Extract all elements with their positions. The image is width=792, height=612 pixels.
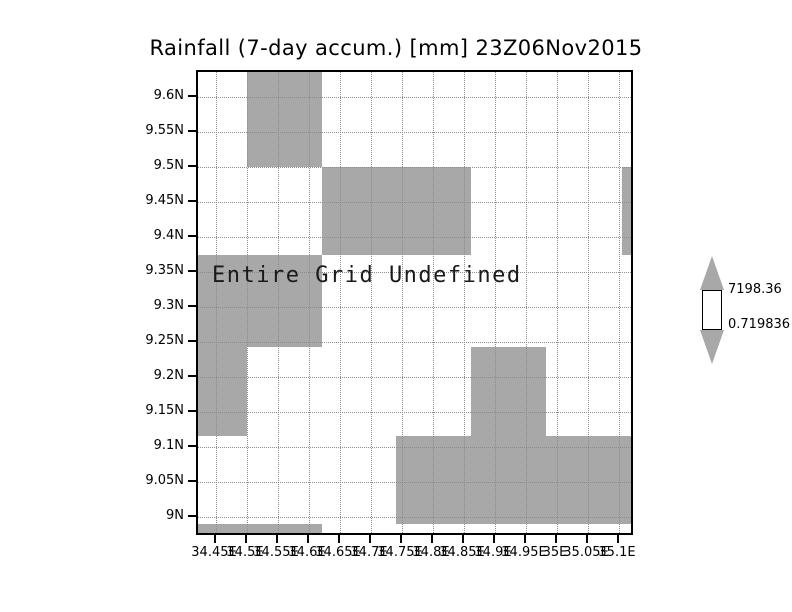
y-axis-label: 9.15N — [145, 403, 184, 418]
gridline-horizontal — [198, 517, 631, 518]
colorbar[interactable] — [700, 256, 724, 364]
y-axis-tick — [188, 130, 196, 132]
y-axis-label: 9.55N — [145, 123, 184, 138]
gridline-vertical — [619, 72, 620, 533]
grid-lines — [198, 72, 631, 533]
gridline-vertical — [340, 72, 341, 533]
x-axis-tick — [214, 535, 216, 543]
x-axis-tick — [431, 535, 433, 543]
x-axis-tick — [307, 535, 309, 543]
y-axis-tick — [188, 235, 196, 237]
gridline-horizontal — [198, 202, 631, 203]
gridline-vertical — [588, 72, 589, 533]
y-axis-tick — [188, 340, 196, 342]
plot-area[interactable] — [196, 70, 633, 535]
y-axis-tick — [188, 515, 196, 517]
gridline-vertical — [278, 72, 279, 533]
y-axis-tick — [188, 375, 196, 377]
y-axis-label: 9.05N — [145, 473, 184, 488]
gridline-vertical — [433, 72, 434, 533]
gridline-vertical — [309, 72, 310, 533]
x-axis-tick — [493, 535, 495, 543]
x-axis-tick — [276, 535, 278, 543]
page-title: Rainfall (7-day accum.) [mm] 23Z06Nov201… — [0, 36, 792, 60]
x-axis-tick — [462, 535, 464, 543]
gridline-vertical — [557, 72, 558, 533]
gridline-horizontal — [198, 447, 631, 448]
x-axis-label: 35.1E — [598, 545, 635, 560]
y-axis-label: 9.5N — [154, 158, 184, 173]
gridline-horizontal — [198, 97, 631, 98]
x-axis-tick — [524, 535, 526, 543]
x-axis-tick — [338, 535, 340, 543]
colorbar-min-label: 0.719836 — [728, 317, 790, 332]
y-axis-tick — [188, 410, 196, 412]
y-axis-label: 9.4N — [154, 228, 184, 243]
x-axis-tick — [400, 535, 402, 543]
colorbar-upper-triangle-icon — [700, 256, 724, 290]
gridline-vertical — [402, 72, 403, 533]
y-axis-label: 9.25N — [145, 333, 184, 348]
gridline-vertical — [216, 72, 217, 533]
x-axis-tick — [245, 535, 247, 543]
entire-grid-undefined-message: Entire Grid Undefined — [212, 263, 522, 288]
colorbar-max-label: 7198.36 — [728, 282, 782, 297]
x-axis-tick — [555, 535, 557, 543]
y-axis-label: 9.35N — [145, 263, 184, 278]
y-axis-tick — [188, 305, 196, 307]
gridline-horizontal — [198, 377, 631, 378]
x-axis-tick — [586, 535, 588, 543]
y-axis-tick — [188, 200, 196, 202]
gridline-vertical — [495, 72, 496, 533]
y-axis-label: 9.6N — [154, 88, 184, 103]
gridline-horizontal — [198, 167, 631, 168]
gridline-vertical — [247, 72, 248, 533]
gridline-horizontal — [198, 412, 631, 413]
gridline-vertical — [464, 72, 465, 533]
y-axis-label: 9.1N — [154, 438, 184, 453]
x-axis-tick — [617, 535, 619, 543]
y-axis-label: 9.3N — [154, 298, 184, 313]
y-axis-label: 9.2N — [154, 368, 184, 383]
colorbar-lower-triangle-icon — [700, 330, 724, 364]
gridline-vertical — [371, 72, 372, 533]
gridline-horizontal — [198, 132, 631, 133]
gridline-horizontal — [198, 482, 631, 483]
gridline-horizontal — [198, 237, 631, 238]
x-axis-tick — [369, 535, 371, 543]
y-axis-tick — [188, 95, 196, 97]
y-axis-tick — [188, 165, 196, 167]
y-axis-tick — [188, 270, 196, 272]
y-axis-tick — [188, 445, 196, 447]
gridline-horizontal — [198, 342, 631, 343]
x-axis-label: 34.95E — [501, 545, 546, 560]
y-axis-label: 9N — [166, 508, 184, 523]
gridline-vertical — [526, 72, 527, 533]
colorbar-band — [702, 290, 722, 330]
gridline-horizontal — [198, 307, 631, 308]
y-axis-label: 9.45N — [145, 193, 184, 208]
y-axis-tick — [188, 480, 196, 482]
